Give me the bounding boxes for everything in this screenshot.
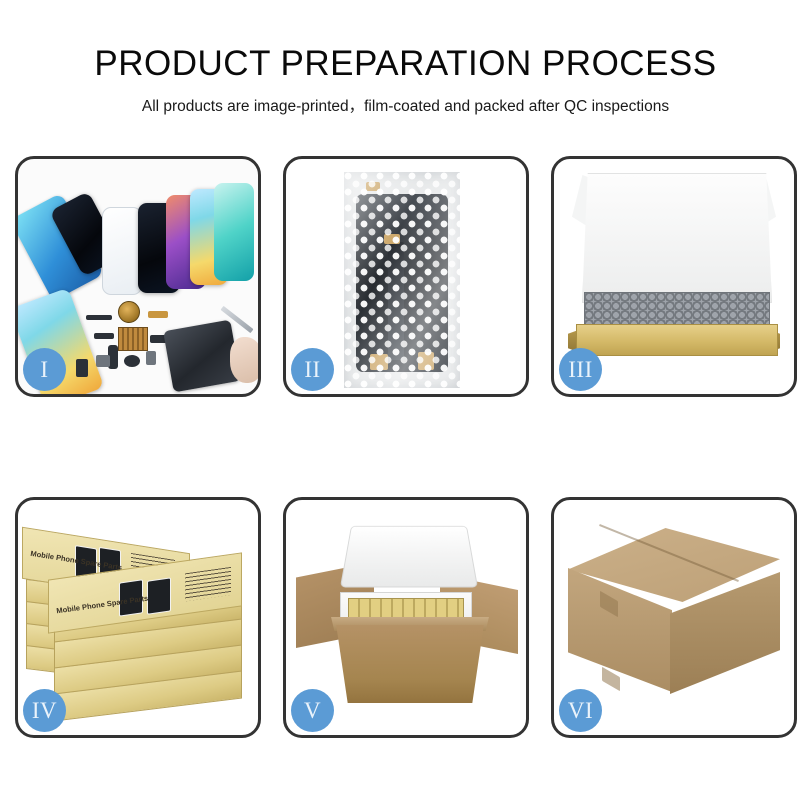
component-button (124, 355, 140, 367)
component-speaker (96, 355, 110, 367)
process-step-6: VI (551, 497, 797, 738)
step-badge-4: IV (23, 689, 66, 732)
process-step-5: V (283, 497, 529, 738)
step-badge-5: V (291, 689, 334, 732)
carton-body (328, 625, 492, 703)
bubble-wrapped-contents (584, 292, 770, 328)
phone-teal (214, 183, 254, 281)
product-preparation-infographic: PRODUCT PREPARATION PROCESS All products… (0, 0, 811, 811)
box-lid-back (582, 173, 772, 303)
process-step-3: III (551, 156, 797, 397)
step-badge-1: I (23, 348, 66, 391)
camera-module (118, 301, 140, 323)
process-step-grid: I II (15, 156, 797, 738)
box-art-spec-lines-front (185, 567, 231, 601)
component-strip (86, 315, 112, 320)
header: PRODUCT PREPARATION PROCESS All products… (0, 0, 811, 116)
phone-white-front (102, 207, 142, 295)
box-art-phone-4 (147, 577, 171, 614)
hand (230, 337, 258, 383)
step-badge-2: II (291, 348, 334, 391)
step-badge-3: III (559, 348, 602, 391)
component-sim-tray (76, 359, 88, 377)
step-badge-6: VI (559, 689, 602, 732)
gold-box-front (576, 324, 778, 356)
bubble-wrap-bag (344, 172, 460, 388)
process-step-4: Mobile Phone Spare Parts Mobile Phone Sp… (15, 497, 261, 738)
process-step-2: II (283, 156, 529, 397)
component-battery-clip (146, 351, 156, 365)
foam-cooler-lid (340, 526, 478, 588)
page-title: PRODUCT PREPARATION PROCESS (0, 46, 811, 83)
page-subtitle: All products are image-printed，film-coat… (0, 94, 811, 116)
chip-grid (118, 327, 148, 351)
process-step-1: I (15, 156, 261, 397)
component-gold-flex (148, 311, 168, 318)
bag-sheen (344, 172, 460, 388)
component-connector (94, 333, 114, 339)
